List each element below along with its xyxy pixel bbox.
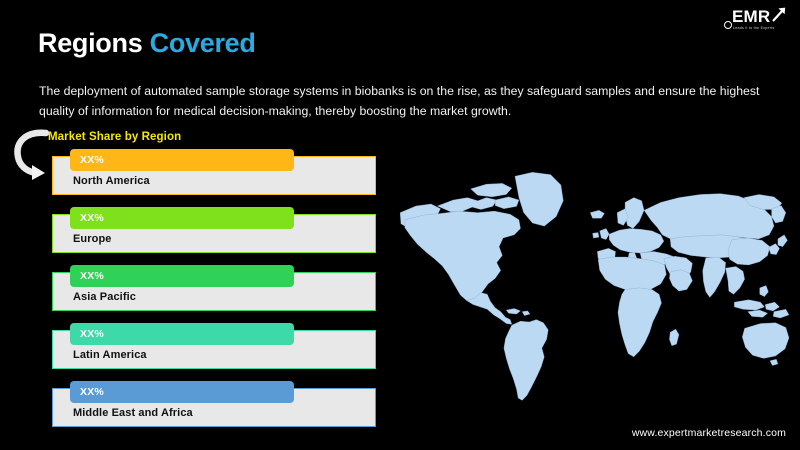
page-title: Regions Covered — [38, 27, 256, 59]
market-share-chart: XX%North AmericaXX%EuropeXX%Asia Pacific… — [52, 149, 378, 426]
region-row: XX%Middle East and Africa — [52, 381, 376, 427]
region-row: XX%North America — [52, 149, 376, 195]
region-share-value: XX% — [80, 386, 104, 398]
region-share-value: XX% — [80, 154, 104, 166]
page-title-part2: Covered — [150, 28, 256, 58]
page-title-part1: Regions — [38, 28, 150, 58]
region-share-bar: XX% — [70, 323, 294, 345]
page-subtitle: The deployment of automated sample stora… — [39, 81, 761, 121]
region-share-bar: XX% — [70, 265, 294, 287]
region-share-bar: XX% — [70, 149, 294, 171]
region-name-label: Middle East and Africa — [73, 407, 193, 419]
region-share-value: XX% — [80, 328, 104, 340]
region-name-label: Asia Pacific — [73, 291, 136, 303]
region-row: XX%Europe — [52, 207, 376, 253]
region-row: XX%Asia Pacific — [52, 265, 376, 311]
logo-text: EMR — [732, 8, 770, 25]
world-map-icon — [393, 152, 789, 408]
region-share-value: XX% — [80, 212, 104, 224]
logo-tagline: Leads it to the Experts — [733, 26, 775, 31]
region-share-bar: XX% — [70, 207, 294, 229]
region-name-label: Latin America — [73, 349, 147, 361]
region-share-bar: XX% — [70, 381, 294, 403]
footer-url: www.expertmarketresearch.com — [632, 427, 786, 439]
region-name-label: Europe — [73, 233, 112, 245]
region-share-value: XX% — [80, 270, 104, 282]
region-row: XX%Latin America — [52, 323, 376, 369]
logo-circle-icon — [724, 21, 732, 29]
region-name-label: North America — [73, 175, 150, 187]
chart-label: Market Share by Region — [48, 131, 181, 143]
emr-logo: EMR Leads it to the Experts — [714, 6, 792, 38]
